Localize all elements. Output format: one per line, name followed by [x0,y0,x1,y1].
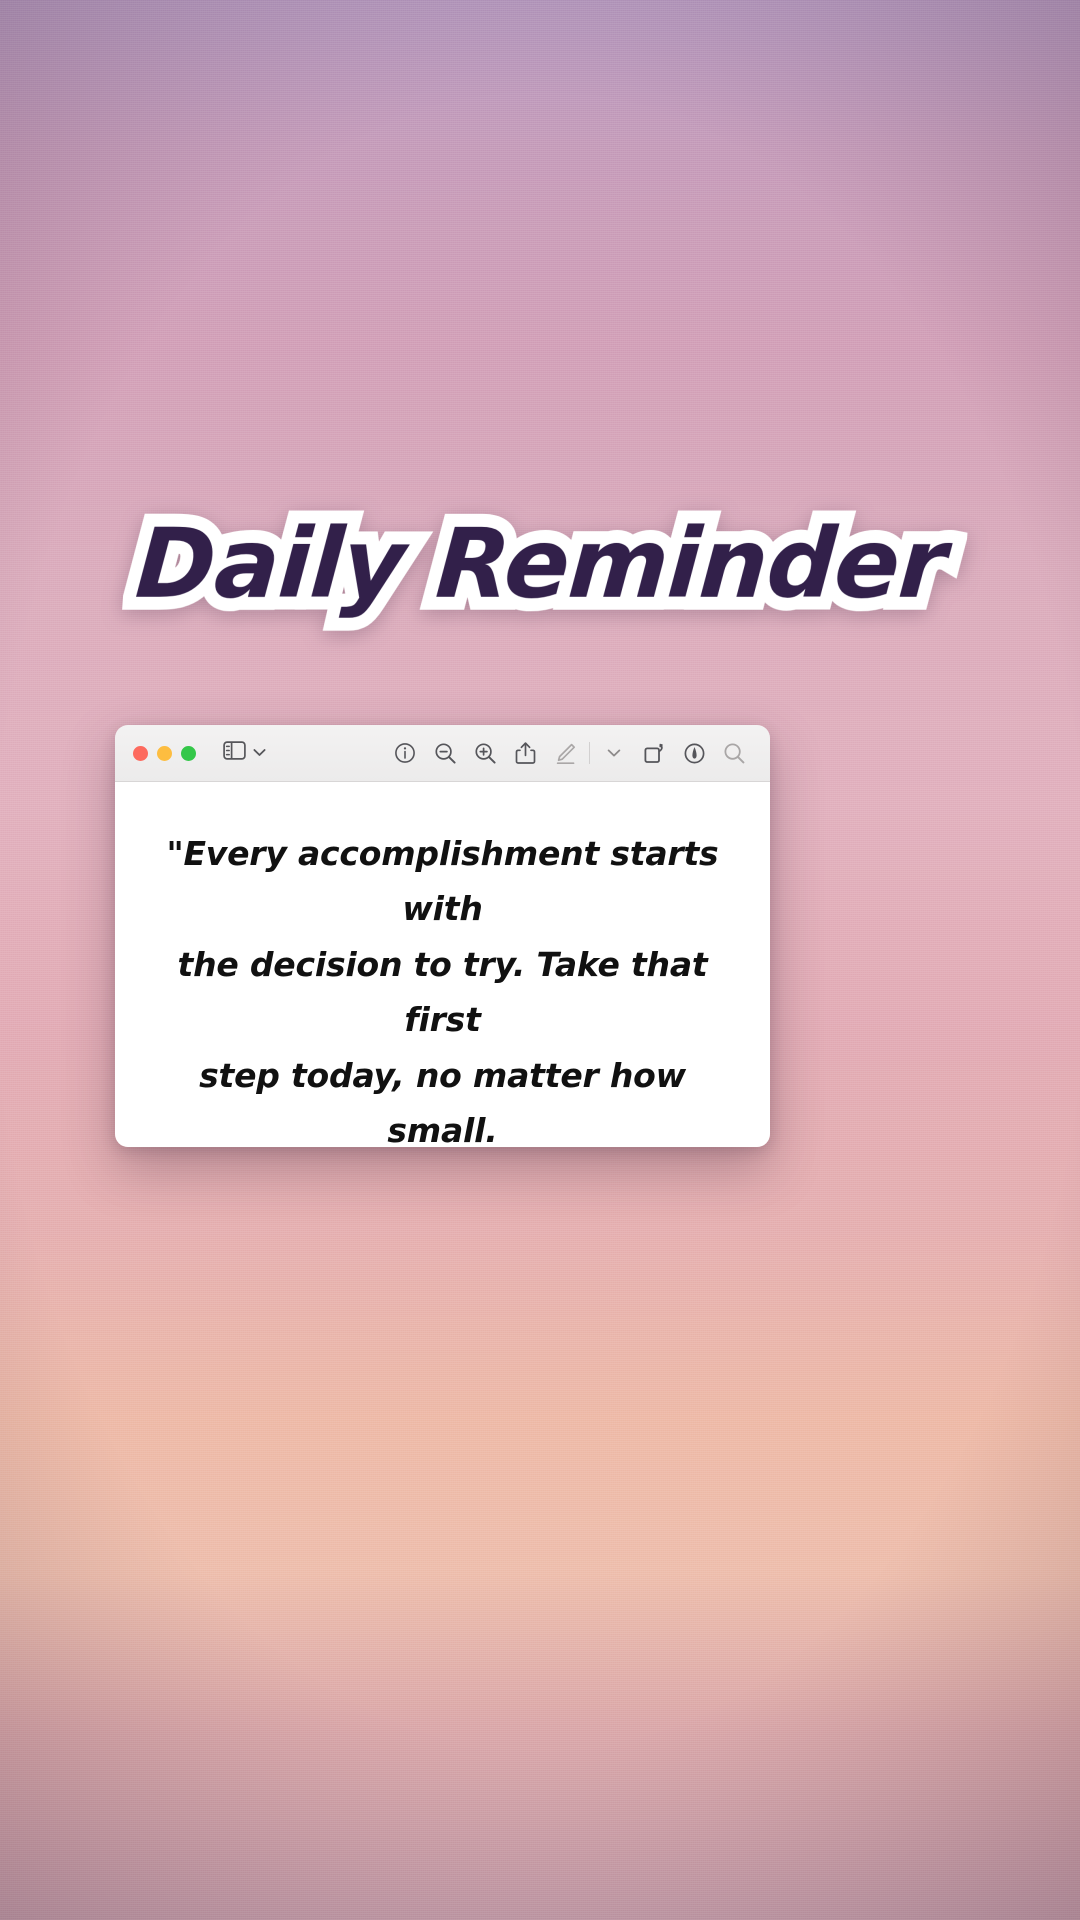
quote-line: step today, no matter how small. [149,1048,736,1147]
quote-text: "Every accomplishment starts with the de… [149,826,736,1147]
quote-line: the decision to try. Take that first [149,937,736,1048]
title-block: Daily Reminder [0,508,1080,629]
search-icon[interactable] [714,733,754,773]
page-title: Daily Reminder [105,508,974,629]
maximize-button[interactable] [181,746,196,761]
share-icon[interactable] [505,733,545,773]
chevron-down-icon [253,744,266,762]
traffic-light-group [133,746,196,761]
quote-line: "Every accomplishment starts with [149,826,736,937]
story-canvas: Daily Reminder [0,0,1080,1920]
rotate-icon[interactable] [634,733,674,773]
minimize-button[interactable] [157,746,172,761]
chevron-down-icon[interactable] [594,733,634,773]
document-body: "Every accomplishment starts with the de… [115,782,770,1147]
sidebar-icon [223,741,246,765]
close-button[interactable] [133,746,148,761]
toolbar-separator [589,742,590,764]
toolbar-right-group [385,733,754,773]
zoom-out-icon[interactable] [425,733,465,773]
sidebar-toggle-button[interactable] [223,741,266,765]
window-titlebar[interactable] [115,725,770,782]
annotate-icon[interactable] [674,733,714,773]
zoom-in-icon[interactable] [465,733,505,773]
markup-pen-icon[interactable] [545,733,585,773]
info-icon[interactable] [385,733,425,773]
mac-preview-window[interactable]: "Every accomplishment starts with the de… [115,725,770,1147]
